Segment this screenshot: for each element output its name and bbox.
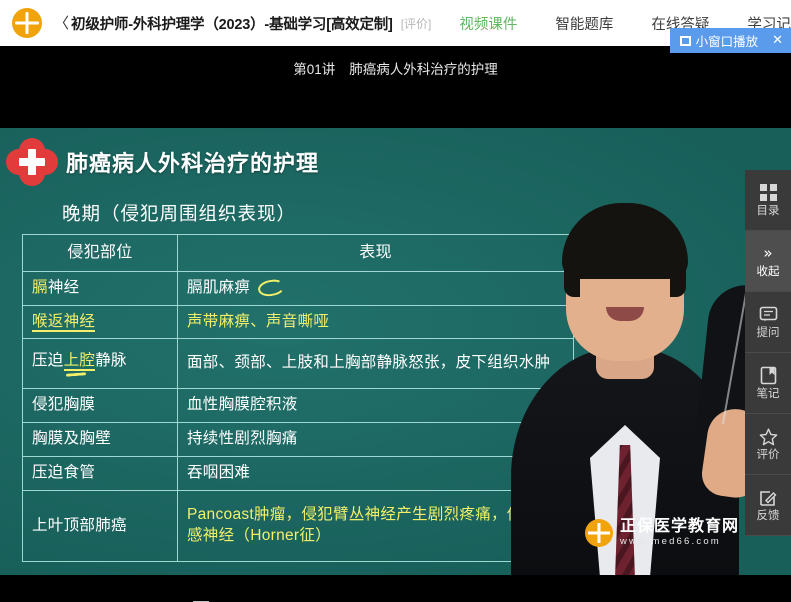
cell-manifestation: 膈肌麻痹 [178,271,574,305]
cell-site: 喉返神经 [23,305,178,339]
tool-label-collapse: 收起 [757,267,780,279]
tool-item-notes[interactable]: 笔记 [745,353,791,414]
grid-icon [760,183,777,203]
collapse-chevron-icon: » [763,244,772,264]
tool-item-rate[interactable]: 评价 [745,414,791,475]
cell-manifestation: Pancoast肿瘤，侵犯臂丛神经产生剧烈疼痛，侵犯交感神经（Horner征） [178,491,574,562]
cell-manifestation: 声带麻痹、声音嘶哑 [178,305,574,339]
tool-item-feedback[interactable]: 反馈 [745,475,791,536]
cell-site: 压迫上腔静脉 [23,339,178,389]
tool-item-ask[interactable]: 提问 [745,292,791,353]
cell-site: 膈神经 [23,271,178,305]
cell-site: 胸膜及胸壁 [23,423,178,457]
course-title: 初级护师-外科护理学（2023）-基础学习[高效定制] [71,13,393,34]
tool-label-ask: 提问 [757,328,780,340]
site-watermark: 正保医学教育网 www.med66.com [585,518,739,547]
cell-site: 压迫食管 [23,457,178,491]
cell-manifestation: 吞咽困难 [178,457,574,491]
tool-label-feedback: 反馈 [757,511,780,523]
pip-playback-badge[interactable]: 小窗口播放 ✕ [670,28,791,53]
table-row: 胸膜及胸壁 持续性剧烈胸痛 [23,423,574,457]
cell-manifestation: 血性胸膜腔积液 [178,389,574,423]
manifestation-table: 侵犯部位 表现 膈神经 膈肌麻痹 喉返神经 声带麻痹、声音嘶哑 压迫上腔静脉 面… [22,234,574,562]
video-course-page: 〈 初级护师-外科护理学（2023）-基础学习[高效定制] [评价] 视频课件 … [0,0,791,602]
watermark-url: www.med66.com [620,536,739,547]
cell-site: 上叶顶部肺癌 [23,491,178,562]
tool-label-catalog: 目录 [757,206,780,218]
player-bottom-area [0,575,791,602]
slide-heading: 肺癌病人外科治疗的护理 [6,138,319,186]
slide-subtitle: 晚期（侵犯周围组织表现） [62,200,296,226]
table-row: 压迫食管 吞咽困难 [23,457,574,491]
tab-smart-question-bank[interactable]: 智能题库 [555,13,613,34]
back-chevron-icon[interactable]: 〈 [54,16,69,31]
note-icon [760,366,777,386]
right-tool-rail: 目录 » 收起 提问 笔记 [745,170,791,536]
med66-cross-logo-icon[interactable] [12,8,42,38]
pip-window-icon [680,36,691,46]
course-evaluate-link[interactable]: [评价] [401,15,432,32]
table-row: 侵犯胸膜 血性胸膜腔积液 [23,389,574,423]
cell-manifestation: 持续性剧烈胸痛 [178,423,574,457]
tool-label-rate: 评价 [757,450,780,462]
cell-manifestation: 面部、颈部、上肢和上胸部静脉怒张，皮下组织水肿 [178,339,574,389]
tool-item-catalog[interactable]: 目录 [745,170,791,231]
edit-icon [759,488,777,508]
table-row: 压迫上腔静脉 面部、颈部、上肢和上胸部静脉怒张，皮下组织水肿 [23,339,574,389]
table-row: 膈神经 膈肌麻痹 [23,271,574,305]
watermark-name: 正保医学教育网 [620,518,739,536]
close-icon[interactable]: ✕ [772,34,783,47]
lecture-number: 第01讲 [293,58,335,78]
pip-playback-label: 小窗口播放 [696,31,759,50]
table-row: 上叶顶部肺癌 Pancoast肿瘤，侵犯臂丛神经产生剧烈疼痛，侵犯交感神经（Ho… [23,491,574,562]
red-cross-badge-icon [6,138,58,186]
med66-watermark-logo-icon [585,519,613,547]
table-header-site: 侵犯部位 [23,235,178,272]
handwritten-loop-annotation [257,277,286,298]
star-icon [759,427,778,447]
chat-icon [759,305,778,325]
table-header-manifestation: 表现 [178,235,574,272]
tool-item-collapse[interactable]: » 收起 [745,231,791,292]
video-stage[interactable]: 肺癌病人外科治疗的护理 晚期（侵犯周围组织表现） 侵犯部位 表现 膈神经 膈肌麻… [0,128,791,575]
cell-site: 侵犯胸膜 [23,389,178,423]
glasses-icon [567,245,683,275]
tool-label-notes: 笔记 [757,389,780,401]
handwritten-dash-annotation [66,373,86,377]
table-row: 喉返神经 声带麻痹、声音嘶哑 [23,305,574,339]
table-header-row: 侵犯部位 表现 [23,235,574,272]
lecture-name: 肺癌病人外科治疗的护理 [349,58,498,78]
tab-video-courseware[interactable]: 视频课件 [459,13,517,34]
slide-title: 肺癌病人外科治疗的护理 [66,146,319,178]
